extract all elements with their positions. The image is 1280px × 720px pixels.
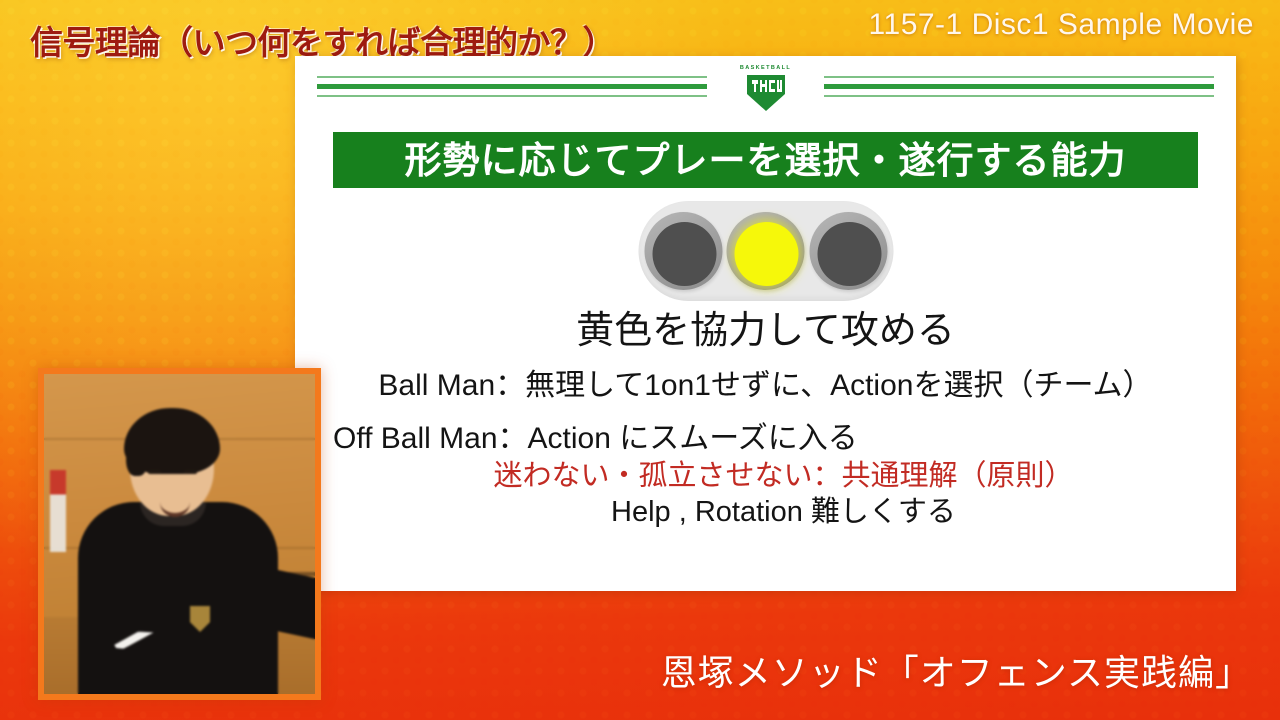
headline-text: 形勢に応じてプレーを選択・遂行する能力 <box>405 142 1127 179</box>
headline-banner: 形勢に応じてプレーを選択・遂行する能力 <box>333 132 1198 188</box>
rule-thin-top <box>824 76 1214 78</box>
logo-wordmark: BASKETBALL <box>731 64 801 73</box>
wall-poster <box>50 470 66 552</box>
header-rule-right <box>824 76 1214 102</box>
rule-thin-top <box>317 76 707 78</box>
traffic-light-lamp-center <box>735 222 799 286</box>
slide-header: BASKETBALL <box>295 64 1236 116</box>
team-logo: BASKETBALL <box>731 64 801 116</box>
slide-body: 黄色を協力して攻める Ball Man：無理して1on1せずに、Actionを選… <box>295 311 1236 529</box>
header-rule-left <box>317 76 707 102</box>
traffic-light-socket-center <box>727 212 805 290</box>
traffic-light-lamp-left <box>652 222 716 286</box>
slide-panel: BASKETBALL 形勢に応じてプレーを選択・遂行する能力 <box>295 56 1236 591</box>
rule-thin-bottom <box>824 95 1214 97</box>
body-line-principle: 迷わない・孤立させない：共通理解（原則） <box>295 461 1236 493</box>
body-line-main: 黄色を協力して攻める <box>295 311 1236 353</box>
instructor-video-pip[interactable] <box>38 368 321 700</box>
shield-icon <box>745 74 787 112</box>
instructor-eye-right <box>184 470 197 474</box>
rule-thick <box>317 84 707 89</box>
program-title: 恩塚メソッド「オフェンス実践編」 <box>661 644 1252 696</box>
body-line-help-rotation: Help , Rotation 難しくする <box>295 497 1236 529</box>
traffic-light-socket-right <box>809 212 887 290</box>
body-line-ball-man: Ball Man：無理して1on1せずに、Actionを選択（チーム） <box>295 369 1236 402</box>
traffic-light-socket-left <box>644 212 722 290</box>
series-label: 1157-1 Disc1 Sample Movie <box>869 8 1254 42</box>
instructor-eye-left <box>148 470 161 474</box>
video-frame: 信号理論（いつ何をすれば合理的か？） 1157-1 Disc1 Sample M… <box>0 0 1280 720</box>
traffic-light-graphic <box>638 201 893 301</box>
traffic-light-lamp-right <box>817 222 881 286</box>
rule-thin-bottom <box>317 95 707 97</box>
body-line-off-ball-man: Off Ball Man：Action にスムーズに入る <box>295 422 1236 455</box>
rule-thick <box>824 84 1214 89</box>
pip-scene <box>44 374 315 694</box>
